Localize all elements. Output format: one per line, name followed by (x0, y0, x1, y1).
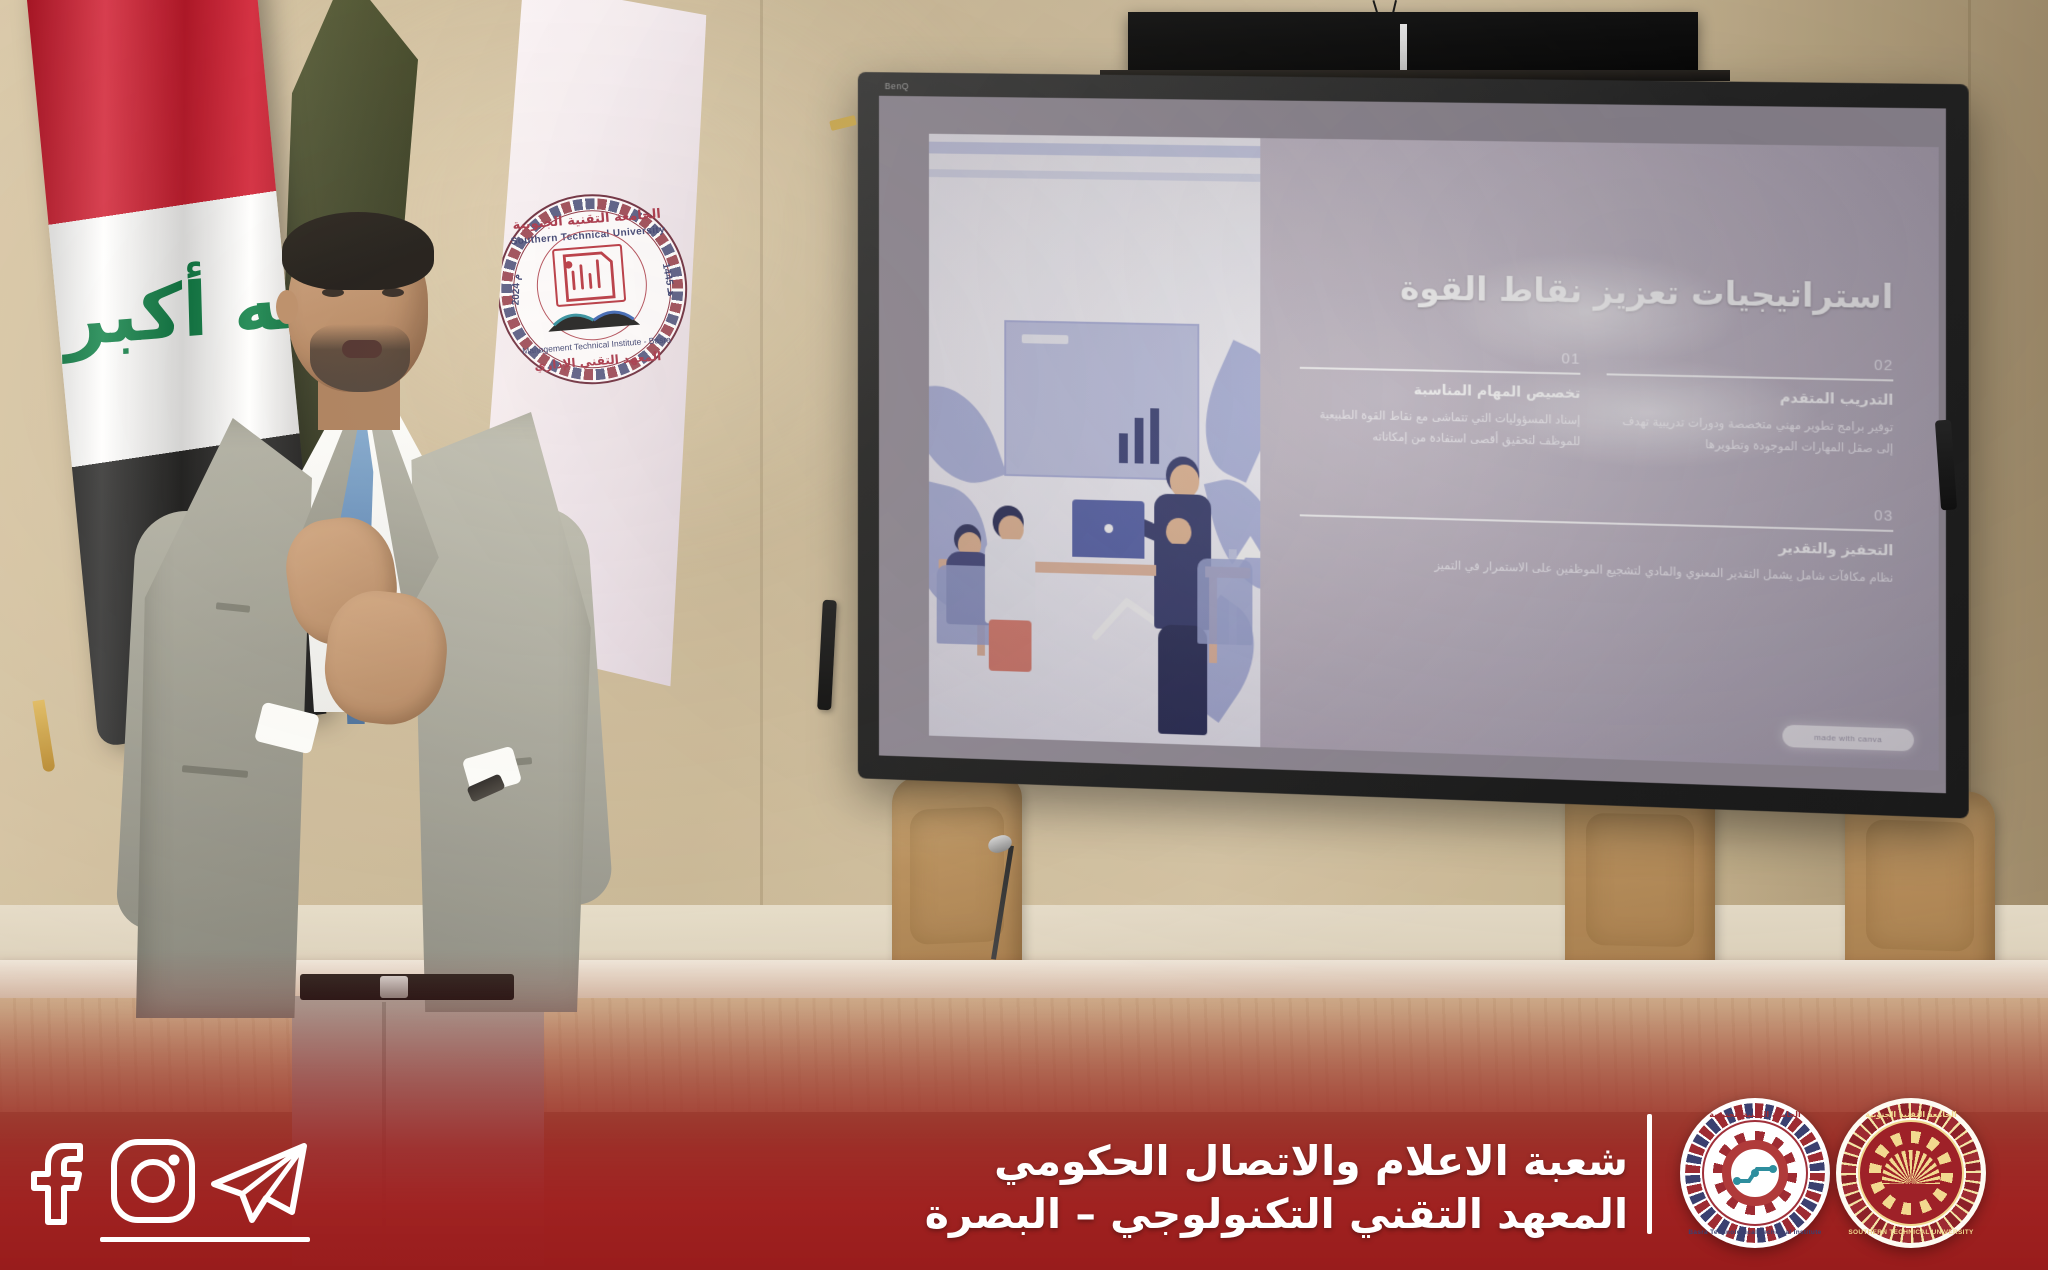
slide-columns: 02 التدريب المتقدم توفير برامج تطوير مهن… (1300, 345, 1893, 460)
banner-line-1: شعبة الاعلام والاتصال الحكومي (925, 1135, 1628, 1187)
banner-title-block: شعبة الاعلام والاتصال الحكومي المعهد الت… (925, 1135, 1628, 1240)
presenter (70, 212, 670, 1132)
whiteboard-screen[interactable]: استراتيجيات تعزيز نقاط القوة 02 التدريب … (879, 96, 1946, 793)
slide-section-01: 01 تخصيص المهام المناسبة إسناد المسؤوليا… (1300, 345, 1581, 453)
section-number: 03 (1300, 492, 1893, 525)
slide-illustration (929, 134, 1260, 747)
university-logo: الجامعة التقنية الجنوبية SOUTHERN TECHNI… (1836, 1098, 1986, 1248)
facebook-icon[interactable] (24, 1140, 98, 1226)
logo-circuit-icon (1729, 1147, 1781, 1199)
social-media-icons (24, 1136, 310, 1226)
slide-section-02: 02 التدريب المتقدم توفير برامج تطوير مهن… (1607, 351, 1894, 460)
presenter-hair (282, 212, 434, 290)
section-rule (1300, 367, 1581, 375)
instagram-icon[interactable] (108, 1136, 198, 1226)
logo-english-bottom: Basra Technological Technical Institute (1680, 1229, 1830, 1236)
chair (892, 772, 1022, 982)
banner-content: شعبة الاعلام والاتصال الحكومي المعهد الت… (0, 1080, 2048, 1270)
canva-attribution-badge: made with canva (1782, 725, 1913, 752)
illustration-laptop-icon (1072, 499, 1144, 558)
section-number: 02 (1607, 351, 1894, 374)
belt-buckle (380, 976, 408, 998)
presenter-beard (310, 324, 410, 392)
section-rule (1607, 373, 1894, 381)
presenter-ear (276, 290, 298, 324)
slide-section-03: 03 التحفيز والتقدير نظام مكافآت شامل يشم… (1300, 492, 1893, 589)
institute-logo: الجامعة التقنية الجنوبية Basra Technolog… (1680, 1098, 1830, 1248)
banner-line-2: المعهد التقني التكنولوجي – البصرة (925, 1188, 1628, 1240)
illustration-chart-label (1022, 334, 1069, 344)
logo-arabic-top: الجامعة التقنية الجنوبية (1836, 1110, 1986, 1119)
presenter-mouth (342, 340, 382, 358)
chair (1845, 787, 1995, 987)
chair (1565, 780, 1715, 983)
illustration-window-bar (929, 142, 1260, 158)
projected-slide: استراتيجيات تعزيز نقاط القوة 02 التدريب … (929, 134, 1939, 771)
illustration-window-bar (929, 169, 1260, 182)
illustration-flipchart (1004, 320, 1199, 481)
telegram-icon[interactable] (208, 1140, 310, 1226)
interactive-whiteboard[interactable]: BenQ (858, 72, 1969, 819)
section-number: 01 (1300, 345, 1581, 368)
slide-text-panel: استراتيجيات تعزيز نقاط القوة 02 التدريب … (1260, 138, 1938, 770)
soundbar-led (1400, 24, 1407, 72)
social-underline (100, 1237, 310, 1242)
soundbar (1128, 12, 1698, 74)
section-body: توفير برامج تطوير مهني متخصصة ودورات تدر… (1607, 411, 1894, 461)
wall-seam (760, 0, 763, 940)
banner-vertical-divider (1647, 1114, 1652, 1234)
logo-english-bottom: SOUTHERN TECHNICAL UNIVERSITY (1836, 1229, 1986, 1236)
section-heading: التدريب المتقدم (1607, 386, 1894, 408)
section-body: إسناد المسؤوليات التي تتماشى مع نقاط الق… (1300, 404, 1581, 453)
photo-canvas: BenQ (0, 0, 2048, 1270)
leaf-decor (929, 371, 1007, 497)
whiteboard-brand-label: BenQ (885, 81, 909, 91)
slide-title: استراتيجيات تعزيز نقاط القوة (1300, 266, 1893, 316)
logo-arabic-top: الجامعة التقنية الجنوبية (1680, 1110, 1830, 1119)
section-heading: تخصيص المهام المناسبة (1300, 380, 1581, 402)
